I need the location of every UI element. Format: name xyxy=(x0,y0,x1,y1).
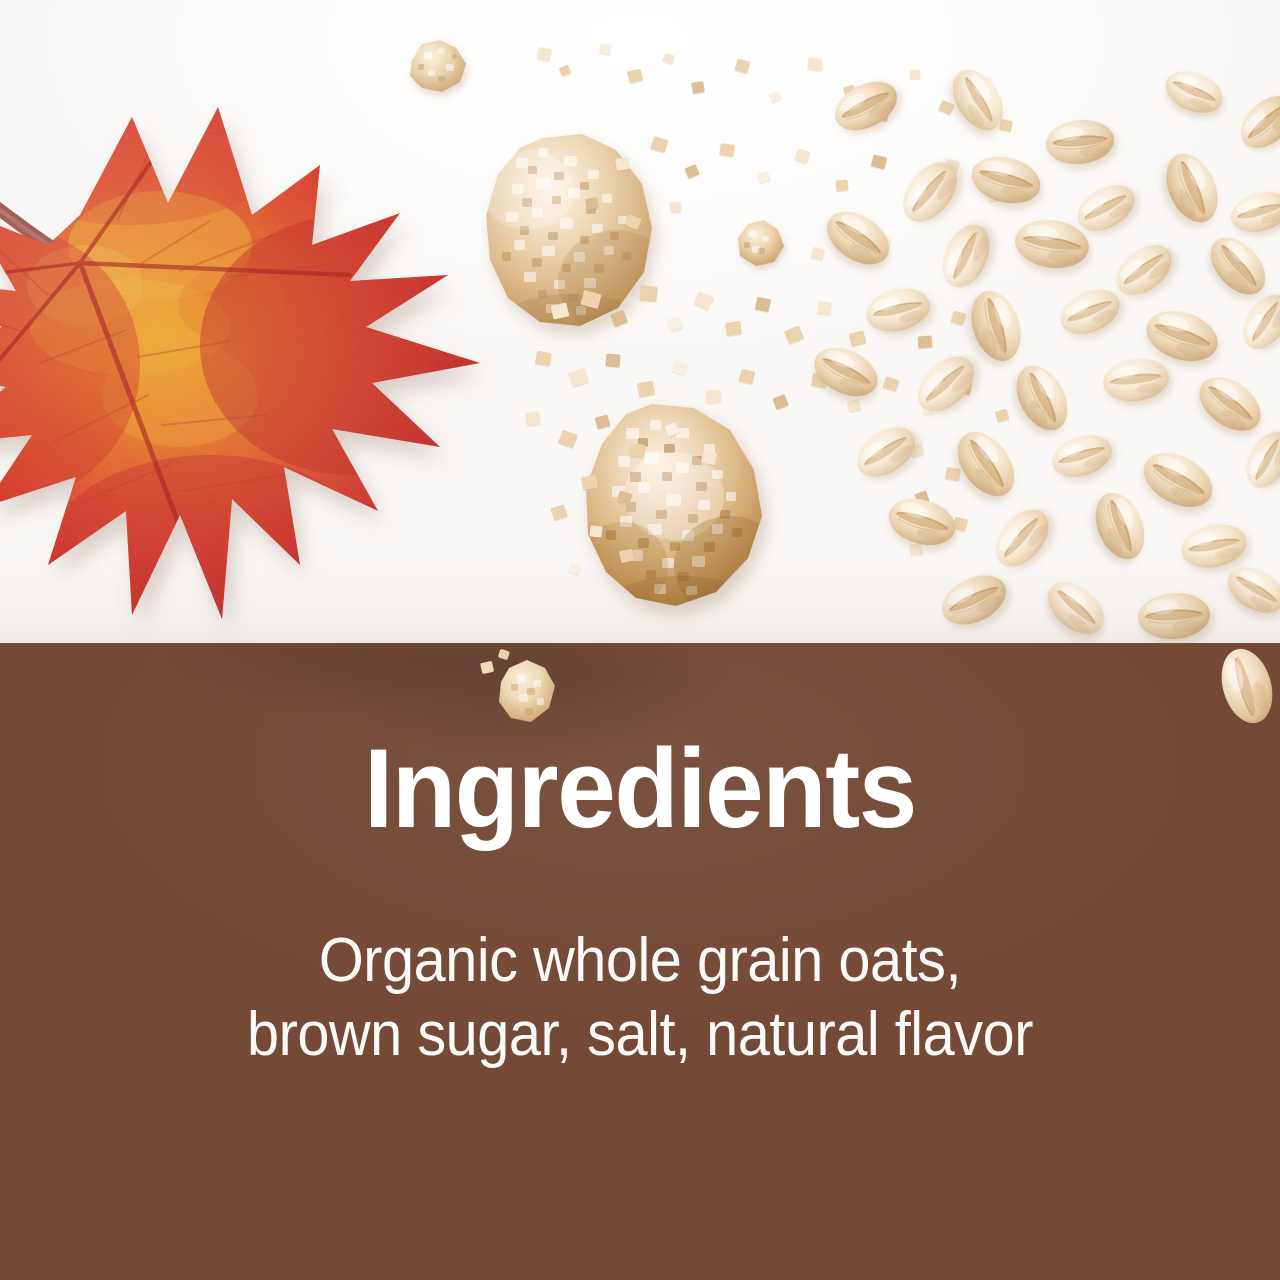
maple-leaf xyxy=(0,95,500,655)
ingredients-photo xyxy=(0,0,1280,660)
ingredients-hero-image: Ingredients Organic whole grain oats, br… xyxy=(0,0,1280,1280)
ingredients-line-2: brown sugar, salt, natural flavor xyxy=(45,998,1235,1072)
ingredients-list: Organic whole grain oats, brown sugar, s… xyxy=(45,924,1235,1072)
rolled-oats xyxy=(790,60,1280,660)
brown-sugar-crumb-on-panel xyxy=(475,646,570,731)
oat-flake-on-panel xyxy=(1202,643,1280,736)
page-title: Ingredients xyxy=(38,733,1241,845)
ingredients-panel: Ingredients Organic whole grain oats, br… xyxy=(0,643,1280,1280)
ingredients-line-1: Organic whole grain oats, xyxy=(45,924,1235,998)
